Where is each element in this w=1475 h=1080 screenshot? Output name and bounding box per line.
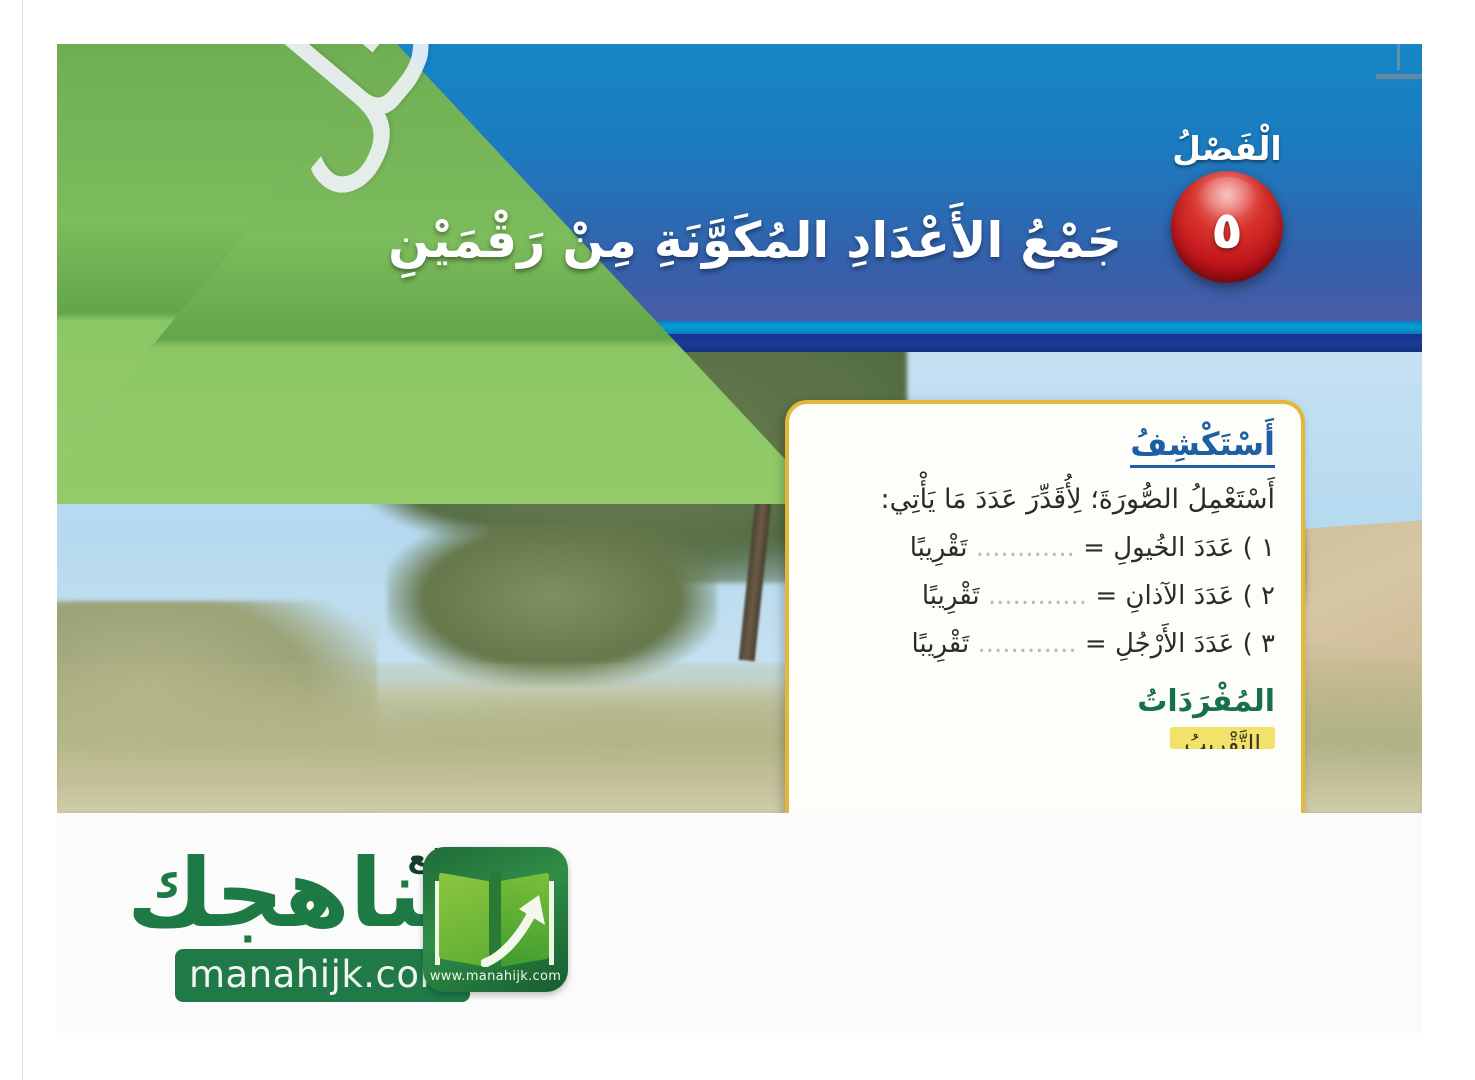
explore-card-title: أَسْتَكْشِفُ <box>1130 426 1275 468</box>
chapter-number: ٥ <box>1211 205 1243 257</box>
explore-item-2-suffix: تَقْرِيبًا <box>922 581 980 611</box>
growth-arrow-icon <box>481 891 551 967</box>
brand-icon-url: www.manahijk.com <box>423 969 568 984</box>
explore-item-1-blank[interactable]: ............ <box>976 533 1075 563</box>
crop-mark-vertical <box>1397 44 1400 70</box>
explore-item-1-number: ١ ) <box>1243 533 1275 563</box>
site-branding: مناهجك موقع manahijk.com www.manahijk.co <box>57 819 1422 1033</box>
chapter-badge: الْفَصْلُ ٥ <box>1152 132 1302 283</box>
textbook-page-image: الْفَصْلُ ٥ جَمْعُ الأَعْدَادِ المُكَوَّ… <box>57 44 1422 813</box>
brand-app-icon: www.manahijk.com <box>423 847 568 992</box>
explore-card-lead: أَسْتَعْمِلُ الصُّورَةَ؛ لِأُقَدِّرَ عَد… <box>815 482 1275 518</box>
explore-item-1-suffix: تَقْرِيبًا <box>910 533 968 563</box>
header-cyan-band <box>57 321 1422 334</box>
explore-item-3-number: ٣ ) <box>1243 629 1275 659</box>
explore-item-3-suffix: تَقْرِيبًا <box>911 629 969 659</box>
page-left-divider <box>22 0 23 1080</box>
explore-item-2-equals: = <box>1095 581 1117 611</box>
explore-item-2-blank[interactable]: ............ <box>988 581 1087 611</box>
explore-item-1-label: عَدَدَ الخُيولِ <box>1113 533 1234 563</box>
explore-item-2-number: ٢ ) <box>1243 581 1275 611</box>
header-navy-band <box>57 334 1422 352</box>
brand-domain-text: manahijk.com <box>189 953 456 996</box>
explore-card: أَسْتَكْشِفُ أَسْتَعْمِلُ الصُّورَةَ؛ لِ… <box>785 400 1305 813</box>
vocabulary-title: المُفْرَدَاتُ <box>815 684 1275 719</box>
branding-lockup: مناهجك موقع manahijk.com www.manahijk.co <box>63 837 633 1005</box>
content-card: الْفَصْلُ ٥ جَمْعُ الأَعْدَادِ المُكَوَّ… <box>57 44 1422 1033</box>
chapter-label: الْفَصْلُ <box>1152 132 1302 165</box>
explore-item-2-label: عَدَدَ الآذانِ <box>1125 581 1234 611</box>
crop-mark-horizontal <box>1376 74 1422 79</box>
vocabulary-term-highlight: التَّقْرِيبُ <box>1170 727 1275 749</box>
explore-item-1: ١ ) عَدَدَ الخُيولِ = ............ تَقْر… <box>815 532 1275 566</box>
explore-item-3: ٣ ) عَدَدَ الأَرْجُلِ = ............ تَق… <box>815 628 1275 662</box>
chapter-number-circle: ٥ <box>1171 171 1283 283</box>
explore-item-1-equals: = <box>1083 533 1105 563</box>
unit-title: جَمْعُ الأَعْدَادِ المُكَوَّنَةِ مِنْ رَ… <box>122 212 1122 269</box>
explore-item-3-blank[interactable]: ............ <box>977 629 1076 659</box>
explore-item-3-equals: = <box>1085 629 1107 659</box>
photo-tree-lower <box>387 526 717 686</box>
explore-item-3-label: عَدَدَ الأَرْجُلِ <box>1115 629 1234 659</box>
page-frame: الْفَصْلُ ٥ جَمْعُ الأَعْدَادِ المُكَوَّ… <box>0 0 1475 1080</box>
explore-item-2: ٢ ) عَدَدَ الآذانِ = ............ تَقْرِ… <box>815 580 1275 614</box>
